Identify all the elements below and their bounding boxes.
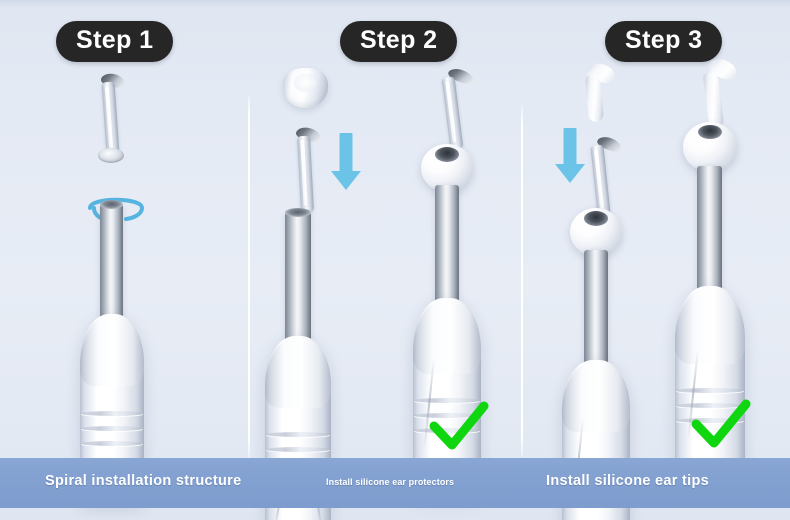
step-2-badge: Step 2	[340, 21, 457, 62]
caption-step-1: Spiral installation structure	[45, 473, 241, 489]
bead-bore	[584, 211, 608, 226]
bead-bore	[435, 147, 459, 162]
divider-step1-step2	[248, 95, 250, 460]
glass-scoop-tip	[288, 128, 328, 220]
caption-step-2: Install silicone ear protectors	[326, 477, 454, 487]
silicone-ear-tip-installed	[698, 60, 742, 132]
step1-device	[60, 196, 190, 496]
handle-grip-ring	[81, 411, 142, 416]
handle-shoulder	[562, 360, 630, 432]
ring-inner-bore	[294, 74, 317, 92]
arrow-head	[331, 171, 361, 190]
scoop-collar	[98, 148, 124, 163]
handle-grip-ring	[81, 426, 142, 431]
step2-silicone-ring	[283, 68, 328, 108]
arrow-shaft	[340, 133, 353, 175]
step3-device-before	[552, 138, 682, 498]
handle-shoulder	[675, 286, 745, 364]
silicone-bead	[570, 208, 622, 256]
instruction-graphic: Step 1 Step 2	[0, 0, 790, 520]
step1-glass-scoop-tip	[92, 74, 132, 164]
bead-bore	[698, 125, 722, 139]
metal-shaft	[697, 166, 722, 294]
step-1-badge: Step 1	[56, 21, 173, 62]
green-check-icon	[428, 400, 490, 452]
metal-shaft	[285, 212, 311, 342]
caption-step-3: Install silicone ear tips	[546, 473, 709, 489]
step-3-badge: Step 3	[605, 21, 722, 62]
handle-grip-ring	[81, 441, 142, 446]
ear-tip-body	[703, 71, 725, 128]
silicone-bead	[683, 122, 737, 172]
handle-shoulder	[265, 336, 331, 408]
glass-scoop-tip	[436, 70, 480, 156]
metal-shaft	[435, 185, 459, 305]
green-check-icon	[690, 398, 752, 450]
metal-shaft	[584, 250, 608, 368]
down-arrow-icon	[326, 133, 366, 193]
handle-shoulder	[413, 298, 481, 374]
step3-silicone-ear-tip	[578, 64, 620, 126]
handle-grip-ring	[266, 447, 329, 452]
handle-grip-ring	[266, 432, 329, 437]
shaft-opening	[285, 208, 311, 217]
handle-grip-ring	[676, 388, 743, 393]
metal-shaft	[100, 204, 123, 320]
shaft-opening	[100, 200, 123, 209]
handle-shoulder	[80, 314, 144, 386]
